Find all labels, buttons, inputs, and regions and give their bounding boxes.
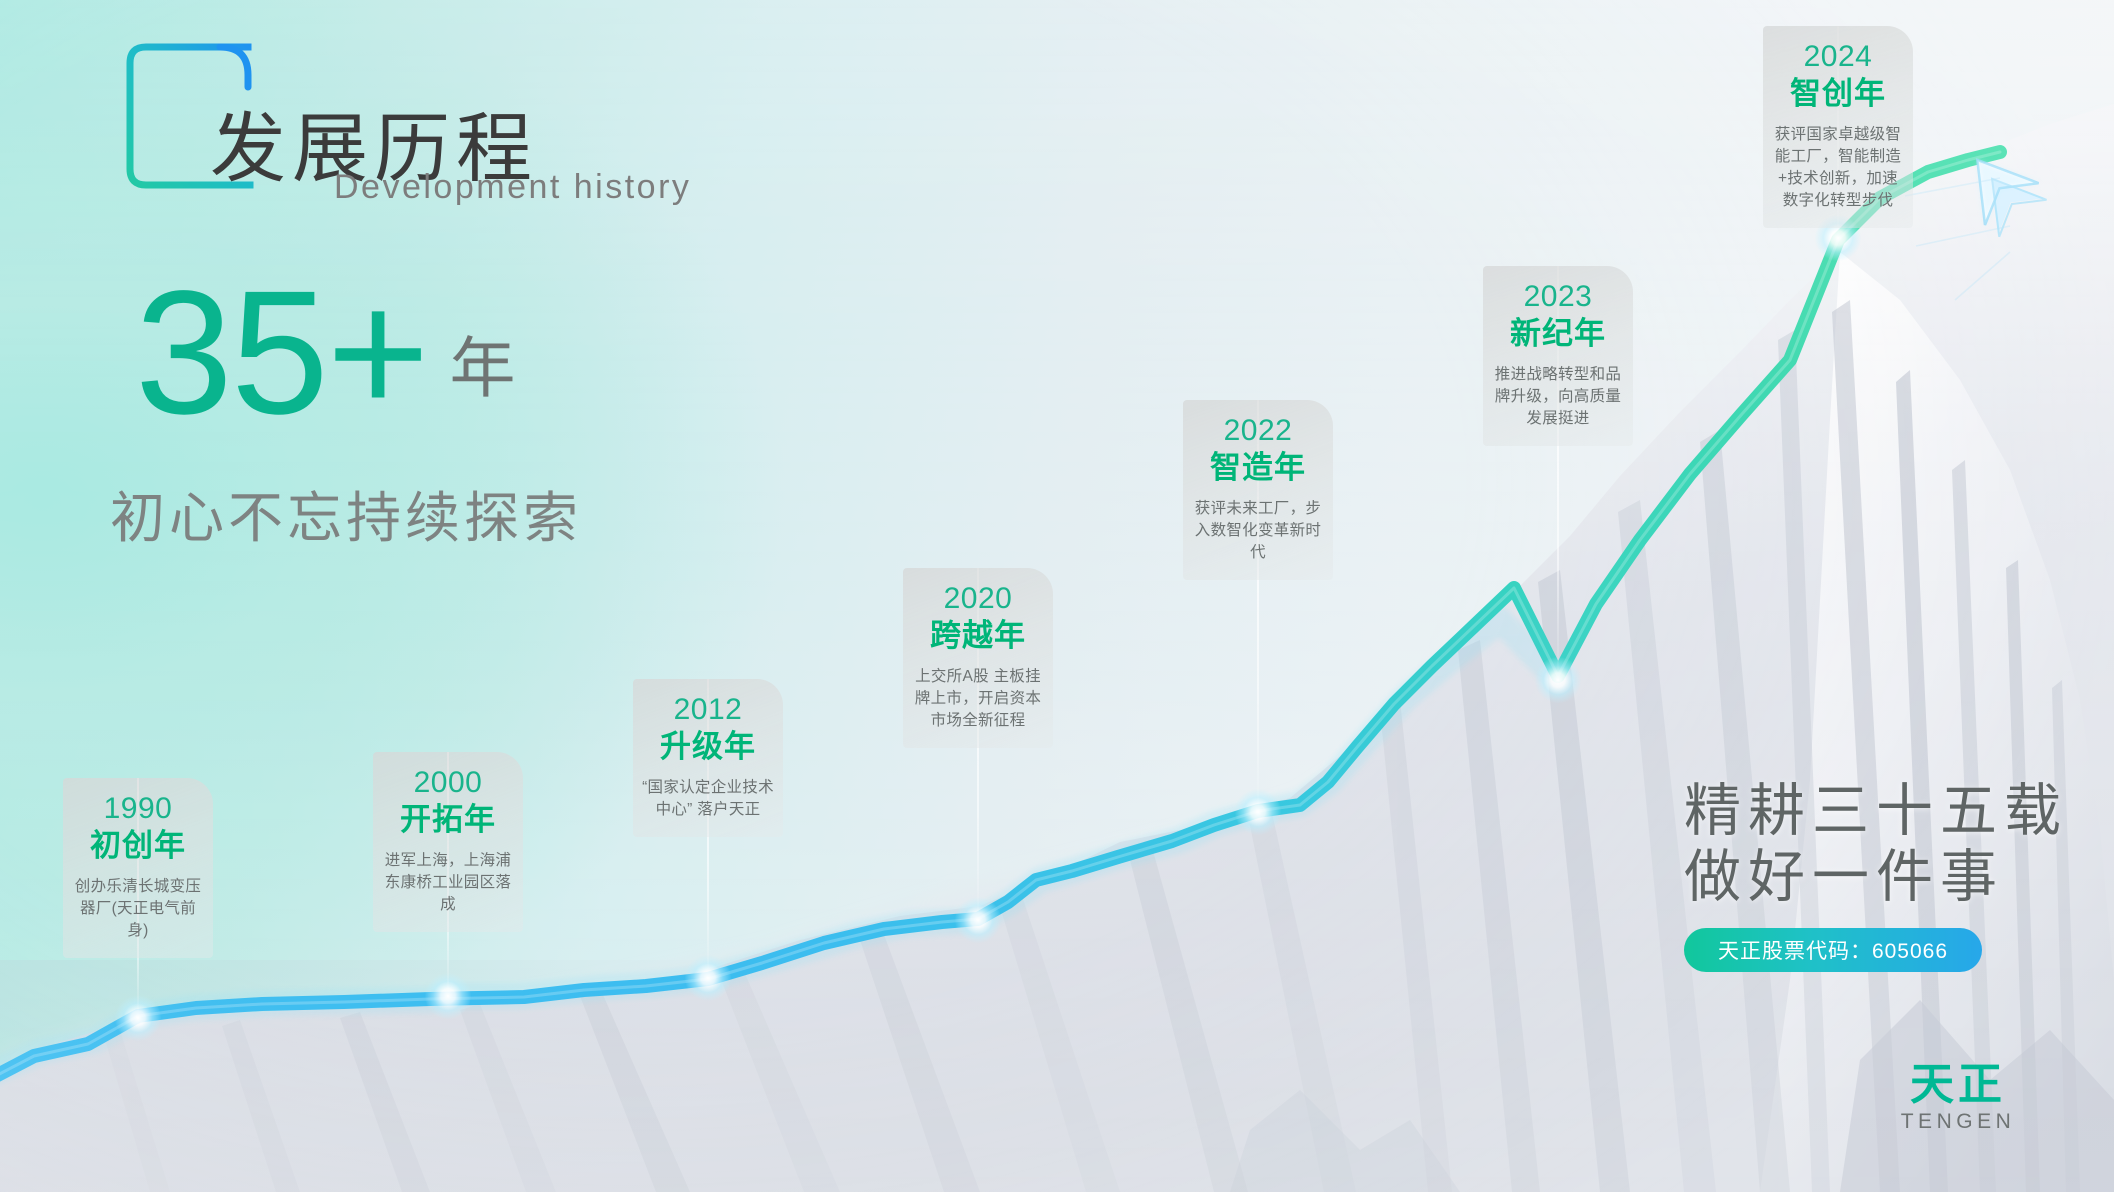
timeline-theme: 跨越年 xyxy=(912,617,1044,655)
timeline-theme: 新纪年 xyxy=(1492,315,1624,353)
years-unit: 年 xyxy=(450,315,516,411)
timeline-description: 上交所A股 主板挂牌上市，开启资本市场全新征程 xyxy=(912,666,1044,732)
timeline-theme: 升级年 xyxy=(642,728,774,766)
page-subtitle: Development history xyxy=(334,168,691,207)
timeline-card-2024[interactable]: 2024智创年获评国家卓越级智能工厂，智能制造+技术创新，加速数字化转型步伐 xyxy=(1763,26,1913,228)
timeline-card-2023[interactable]: 2023新纪年推进战略转型和品牌升级，向高质量发展挺进 xyxy=(1483,266,1633,446)
logo-english-name: TENGEN xyxy=(1893,1110,2023,1134)
slogan-line-2: 做好一件事 xyxy=(1684,844,2068,910)
timeline-description: 进军上海，上海浦东康桥工业园区落成 xyxy=(382,850,514,916)
timeline-year: 2022 xyxy=(1192,414,1324,448)
timeline-year: 2000 xyxy=(382,766,514,800)
timeline-year: 1990 xyxy=(72,792,204,826)
years-tagline: 初心不忘持续探索 xyxy=(110,473,582,553)
timeline-theme: 初创年 xyxy=(72,827,204,865)
timeline-description: 获评国家卓越级智能工厂，智能制造+技术创新，加速数字化转型步伐 xyxy=(1772,124,1904,212)
timeline-year: 2023 xyxy=(1492,280,1624,314)
timeline-description: 创办乐清长城变压器厂(天正电气前身) xyxy=(72,876,204,942)
development-history-poster: 发展历程 Development history 35+年 初心不忘持续探索 1… xyxy=(0,0,2114,1192)
logo-chinese-name: 天正 xyxy=(1893,1062,2023,1108)
timeline-description: 获评未来工厂，步入数智化变革新时代 xyxy=(1192,498,1324,564)
timeline-description: “国家认定企业技术中心” 落户天正 xyxy=(642,777,774,821)
slogan-line-1: 精耕三十五载 xyxy=(1684,778,2068,844)
timeline-theme: 开拓年 xyxy=(382,801,514,839)
timeline-card-2020[interactable]: 2020跨越年上交所A股 主板挂牌上市，开启资本市场全新征程 xyxy=(903,568,1053,748)
years-stat-block: 35+年 初心不忘持续探索 xyxy=(135,268,516,438)
company-logo: 天正 TENGEN xyxy=(1893,1062,2023,1134)
timeline-description: 推进战略转型和品牌升级，向高质量发展挺进 xyxy=(1492,364,1624,430)
years-number: 35+ xyxy=(135,268,428,438)
timeline-year: 2012 xyxy=(642,693,774,727)
stock-code-badge: 天正股票代码：605066 xyxy=(1684,928,1982,972)
timeline-theme: 智创年 xyxy=(1772,75,1904,113)
timeline-year: 2024 xyxy=(1772,40,1904,74)
timeline-theme: 智造年 xyxy=(1192,449,1324,487)
timeline-card-2022[interactable]: 2022智造年获评未来工厂，步入数智化变革新时代 xyxy=(1183,400,1333,580)
timeline-year: 2020 xyxy=(912,582,1044,616)
timeline-card-2012[interactable]: 2012升级年“国家认定企业技术中心” 落户天正 xyxy=(633,679,783,837)
timeline-card-1990[interactable]: 1990初创年创办乐清长城变压器厂(天正电气前身) xyxy=(63,778,213,958)
timeline-card-2000[interactable]: 2000开拓年进军上海，上海浦东康桥工业园区落成 xyxy=(373,752,523,932)
brand-slogan: 精耕三十五载 做好一件事 xyxy=(1684,778,2068,910)
